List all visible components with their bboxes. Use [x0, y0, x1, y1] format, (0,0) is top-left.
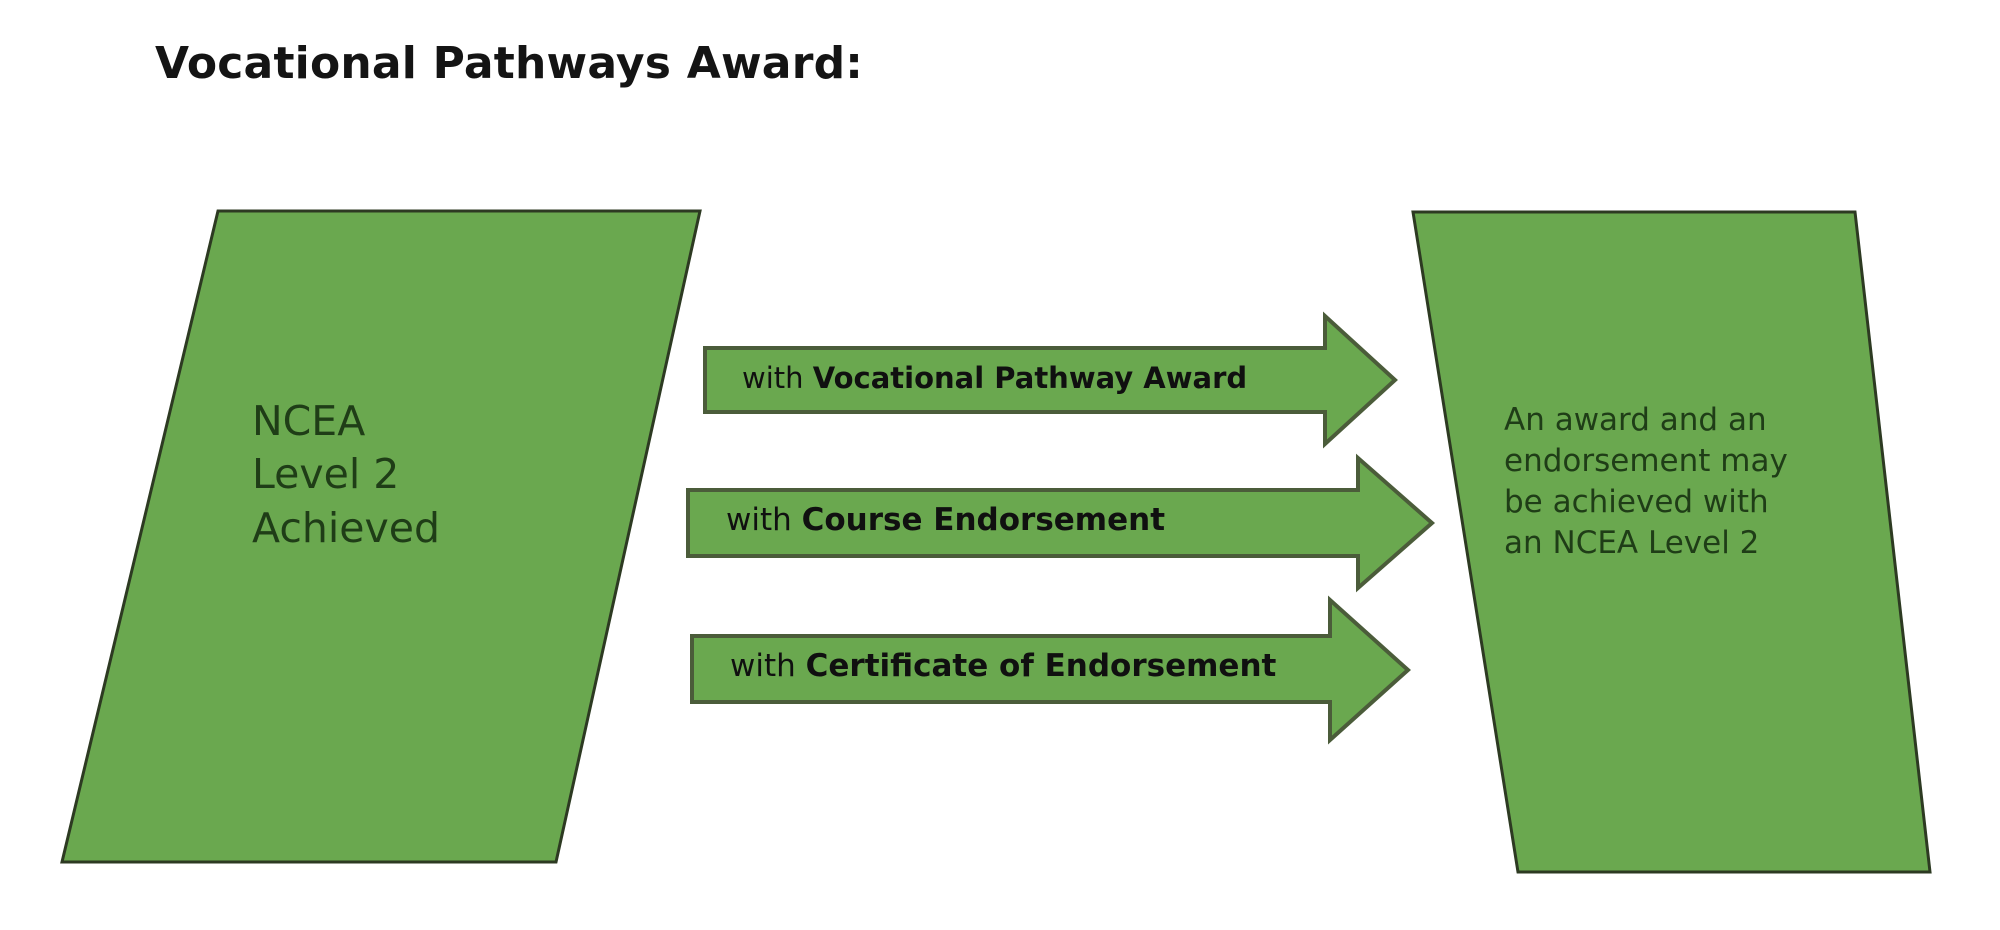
- arrow-label-course-endorsement: with Course Endorsement: [726, 505, 1165, 536]
- arrow-label-emphasis-3: Certificate of Endorsement: [806, 648, 1277, 684]
- arrow-label-lead-3: with: [730, 648, 806, 684]
- arrow-label-certificate-of-endorsement: with Certificate of Endorsement: [730, 651, 1276, 682]
- arrow-label-vocational-pathway-award: with Vocational Pathway Award: [742, 364, 1247, 393]
- arrow-label-emphasis-2: Course Endorsement: [802, 502, 1165, 538]
- diagram-canvas: Vocational Pathways Award: NCEA Level 2 …: [0, 0, 2000, 930]
- arrow-label-emphasis-1: Vocational Pathway Award: [813, 361, 1247, 395]
- arrow-label-lead-2: with: [726, 502, 802, 538]
- arrow-label-lead-1: with: [742, 361, 813, 395]
- page-title: Vocational Pathways Award:: [155, 38, 863, 89]
- left-shape-label: NCEA Level 2 Achieved: [252, 395, 440, 555]
- right-shape-label: An award and an endorsement may be achie…: [1504, 400, 1788, 564]
